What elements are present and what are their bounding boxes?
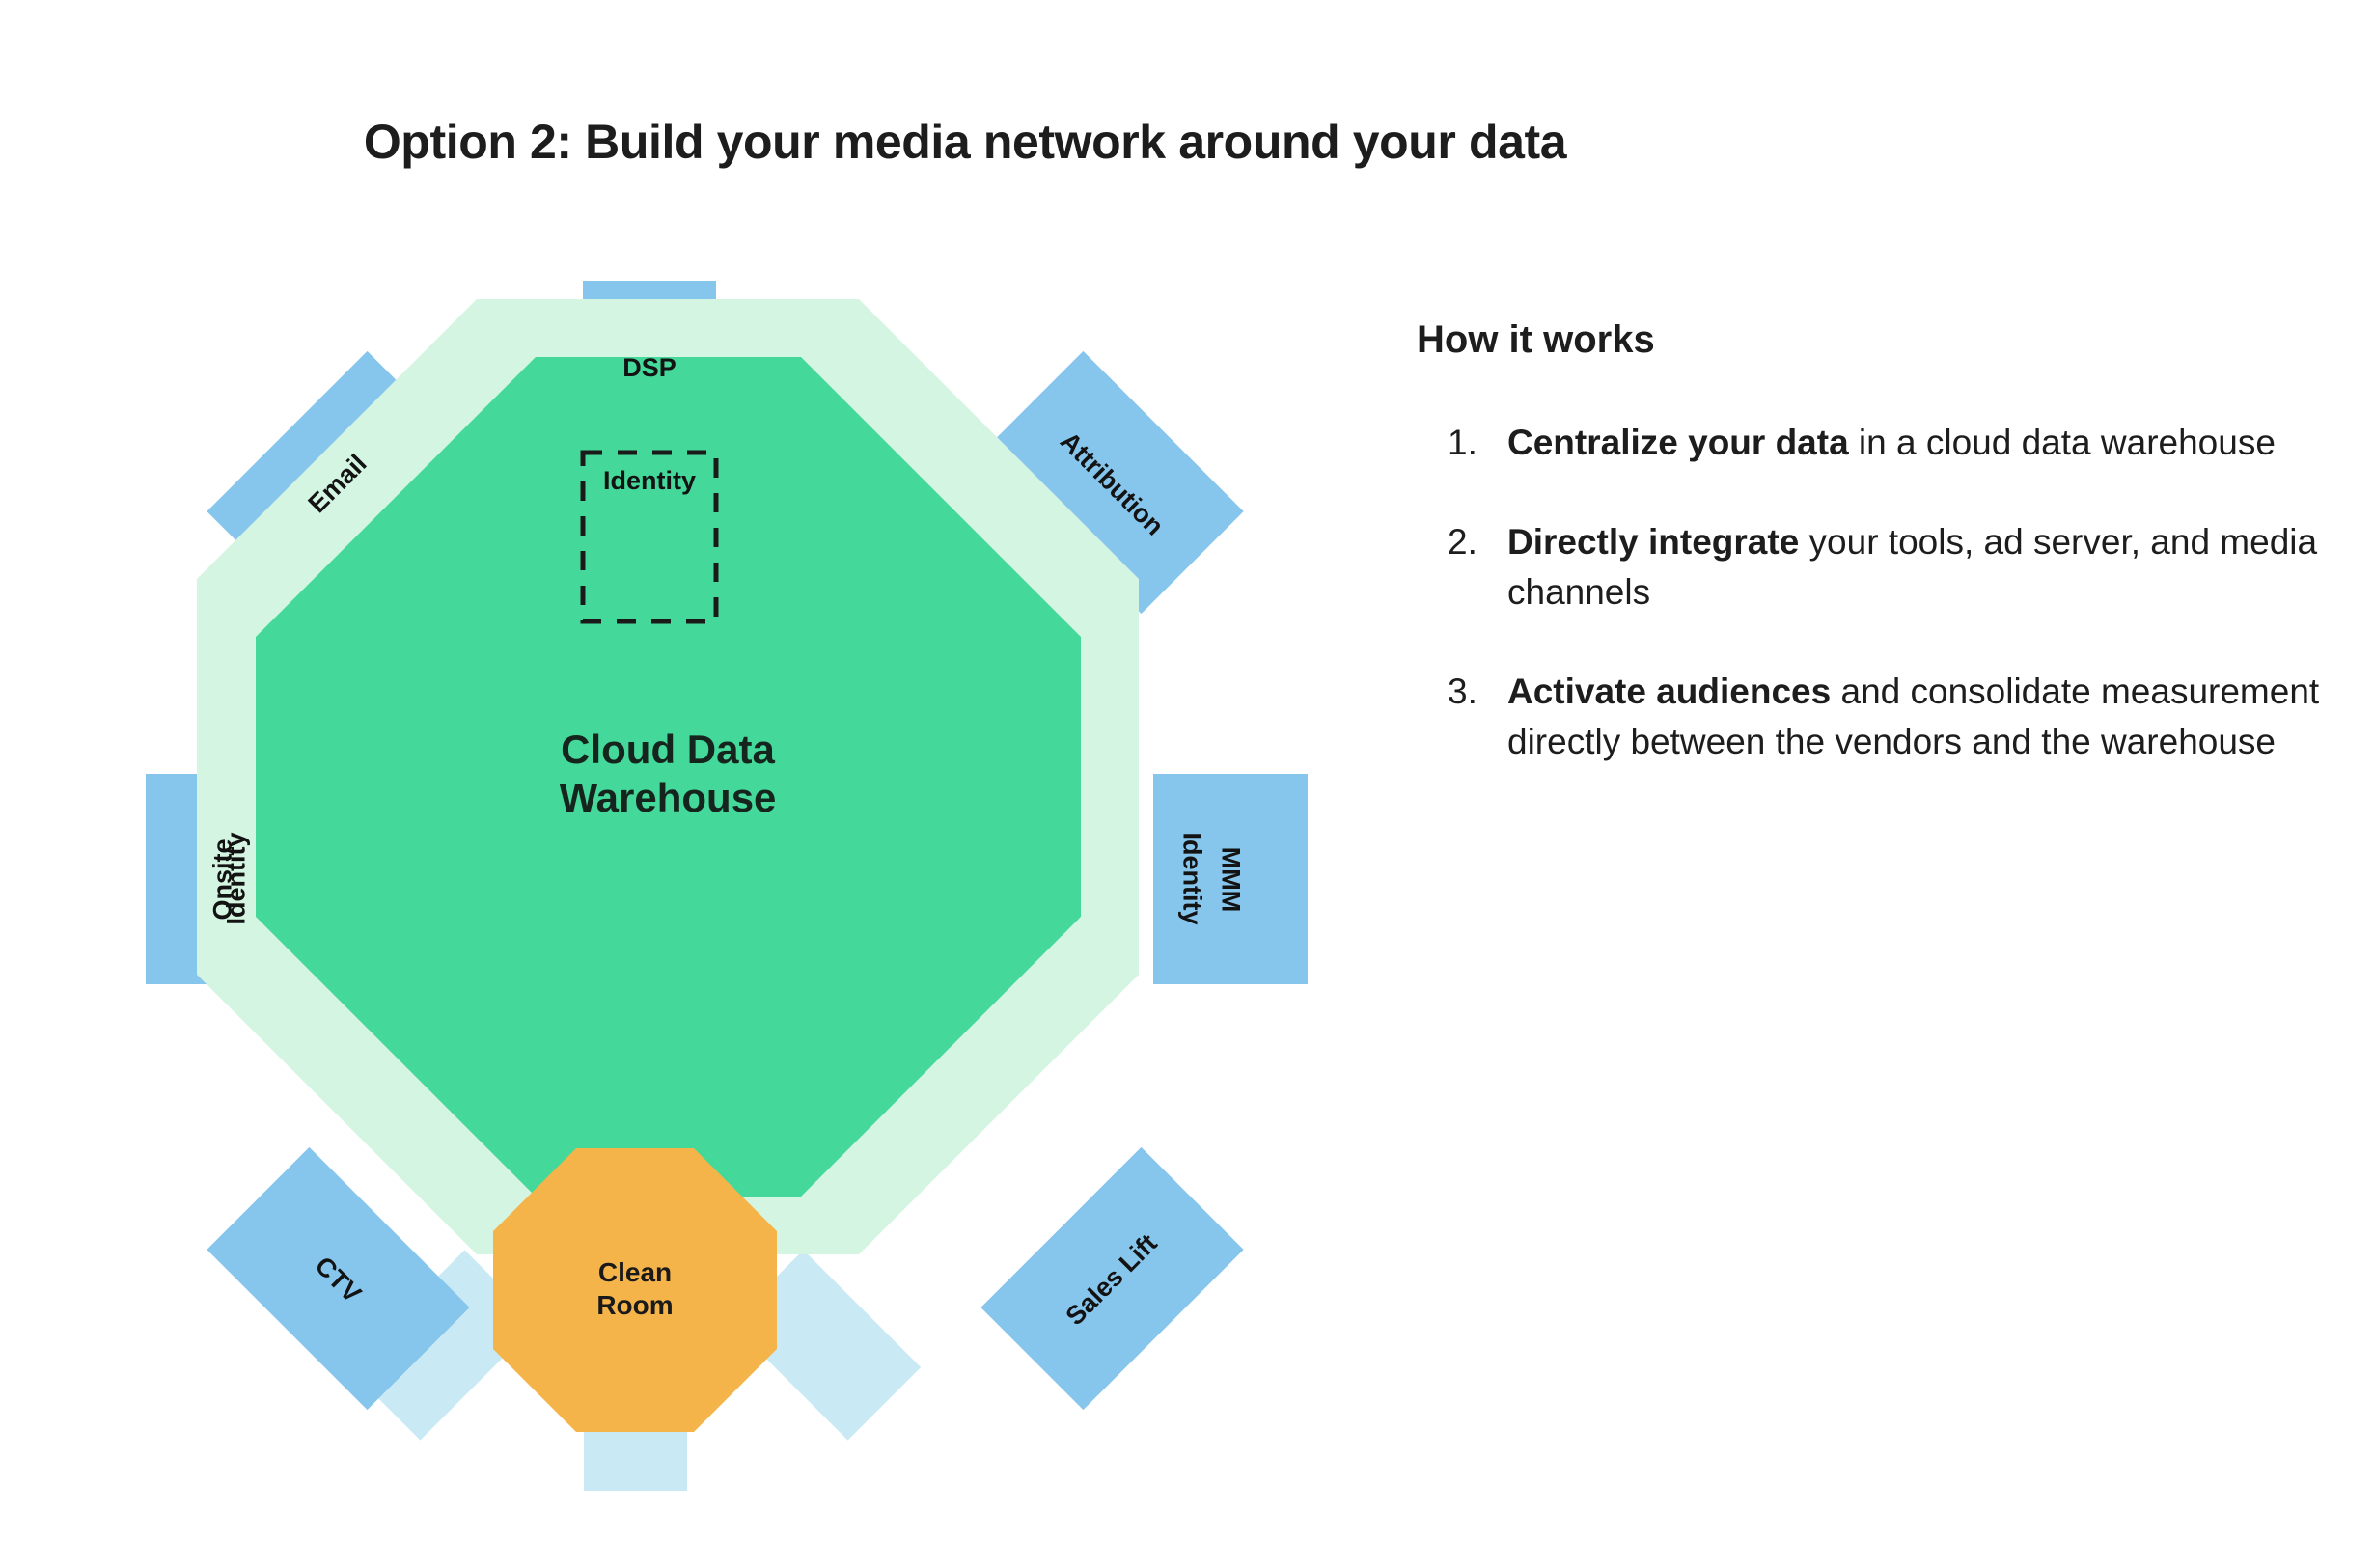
step-bold-text: Centralize your data bbox=[1507, 423, 1849, 462]
center-label-cloud-data-warehouse: Cloud Data Warehouse bbox=[427, 726, 909, 821]
how-it-works-panel: How it works Centralize your data in a c… bbox=[1417, 318, 2343, 816]
ring-label-identity-left: Identity bbox=[222, 792, 252, 966]
clean-room-label: Clean Room bbox=[493, 1256, 777, 1322]
ring-label-identity-top: Identity bbox=[583, 466, 716, 496]
ring-label-identity-right: Identity bbox=[1177, 792, 1207, 966]
step-bold-text: Directly integrate bbox=[1507, 522, 1799, 562]
step-item: Activate audiences and consolidate measu… bbox=[1507, 667, 2343, 768]
how-it-works-steps: Centralize your data in a cloud data war… bbox=[1417, 418, 2343, 768]
step-item: Centralize your data in a cloud data war… bbox=[1507, 418, 2343, 469]
step-rest-text: in a cloud data warehouse bbox=[1849, 423, 2276, 462]
media-network-diagram: DSP Onsite MMM Email Attribution CTV Sal… bbox=[125, 241, 1332, 1496]
how-it-works-heading: How it works bbox=[1417, 318, 2343, 362]
step-item: Directly integrate your tools, ad server… bbox=[1507, 517, 2343, 619]
node-label-mmm: MMM bbox=[1216, 822, 1246, 938]
node-label-dsp: DSP bbox=[583, 353, 716, 383]
step-bold-text: Activate audiences bbox=[1507, 672, 1831, 711]
page-title: Option 2: Build your media network aroun… bbox=[0, 114, 1930, 170]
